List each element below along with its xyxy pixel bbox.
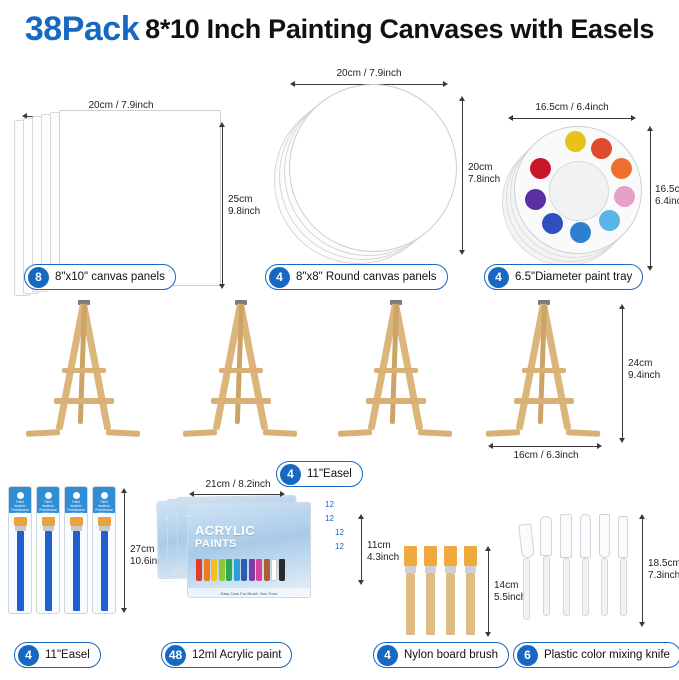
page-title: 38Pack 8*10 Inch Painting Canvases with … <box>0 6 679 52</box>
easel-foot-left <box>338 429 372 437</box>
knife-handle <box>601 558 608 616</box>
ml-badge: 12 <box>325 500 334 509</box>
caption-label: Nylon board brush <box>404 649 498 661</box>
knife-handle <box>543 556 550 616</box>
paint-tube <box>256 559 262 581</box>
dim-line-top <box>193 494 281 495</box>
caption-label: 11"Easel <box>45 649 90 661</box>
ml-badge: 12 <box>335 542 344 551</box>
caption-label: 8"x10" canvas panels <box>55 271 165 283</box>
section-acrylic-paint: ACRYLIC ACRYLIC Acrylic ACRYLIC PAINTS <box>155 494 395 639</box>
hang-hole-icon <box>73 492 80 499</box>
canvas-panel-stack <box>14 64 230 264</box>
caption-brush-set: 4 11"Easel <box>14 642 101 668</box>
knife-handle <box>582 558 589 616</box>
knife-handle <box>523 558 530 620</box>
hang-hole-icon <box>101 492 108 499</box>
dim-arrow-down <box>121 608 127 613</box>
knife-blade <box>560 514 572 558</box>
dim-arrow-down <box>639 622 645 627</box>
dim-arrow-down <box>219 284 225 289</box>
badge-count: 6 <box>517 645 538 666</box>
easel-crossbar-upper <box>374 368 418 373</box>
dim-arrow-right <box>631 115 636 121</box>
dim-arrow-left <box>290 81 295 87</box>
section-canvas-panels: 20cm / 7.9inch 25cm9.8inch <box>6 56 232 296</box>
dim-arrow-down <box>358 580 364 585</box>
tray-well <box>591 138 612 159</box>
paint-tube <box>241 559 247 581</box>
easel-crossbar <box>514 398 574 404</box>
dim-top-label: 20cm / 7.9inch <box>309 68 429 80</box>
knife-blade <box>518 523 534 558</box>
tray-well <box>599 210 620 231</box>
tray-well <box>565 131 586 152</box>
dim-arrow-down <box>485 632 491 637</box>
knife-handle <box>620 558 627 616</box>
knife-blade <box>540 516 552 556</box>
easel-crossbar-upper <box>219 368 263 373</box>
easel <box>18 300 148 450</box>
easel-crossbar <box>54 398 114 404</box>
brush-handle <box>446 573 455 635</box>
brush-ferrule <box>425 566 436 573</box>
dim-bottom-label: 16cm / 6.3inch <box>492 450 600 462</box>
tray-well <box>530 158 551 179</box>
caption-label: 11"Easel <box>307 468 352 480</box>
pack-header: Paint brushesProfessional ACRYLIC <box>37 487 59 513</box>
tray-well <box>611 158 632 179</box>
badge-count: 4 <box>377 645 398 666</box>
knife-handle <box>563 558 570 616</box>
brush-handle <box>17 531 24 611</box>
easel-crossbar-upper <box>522 368 566 373</box>
caption-label: 6.5"Diameter paint tray <box>515 271 632 283</box>
brush-bristles <box>424 546 437 566</box>
badge-count: 8 <box>28 267 49 288</box>
dim-arrow-down <box>459 250 465 255</box>
brush-ferrule <box>465 566 476 573</box>
tray-front <box>514 126 642 254</box>
paint-tube-row <box>196 559 285 581</box>
dim-arrow-up <box>358 514 364 519</box>
caption-label: 8"x8" Round canvas panels <box>296 271 437 283</box>
easel-foot-right <box>418 429 452 437</box>
paint-tray <box>502 124 648 270</box>
knife-blade <box>599 514 610 558</box>
easel-crossbar <box>211 398 271 404</box>
brush-ferrule <box>445 566 456 573</box>
hang-hole-icon <box>17 492 24 499</box>
brush-handle <box>45 531 52 611</box>
paint-tube <box>196 559 202 581</box>
knife-blade <box>580 514 591 558</box>
pack-header: Paint brushesProfessional ACRYLIC <box>9 487 31 513</box>
round-canvas-front <box>289 84 457 252</box>
pack-header: Paint brushesProfessional ACRYLIC <box>65 487 87 513</box>
easel-crossbar-upper <box>62 368 106 373</box>
brush-tip <box>14 517 27 526</box>
dim-arrow-up <box>459 96 465 101</box>
dim-arrow-up <box>619 304 625 309</box>
brush-pack: Paint brushesProfessional ACRYLIC <box>64 486 88 614</box>
section-mixing-knife: 18.5cm7.3inch <box>516 506 679 639</box>
dim-arrow-down <box>647 266 653 271</box>
dim-line-right <box>222 126 223 284</box>
dim-line-bottom <box>492 446 598 447</box>
badge-count: 48 <box>165 645 186 666</box>
knife-blade <box>618 516 628 558</box>
caption-acrylic-paint: 48 12ml Acrylic paint <box>161 642 292 668</box>
paint-tube <box>219 559 225 581</box>
dim-arrow-left <box>508 115 513 121</box>
dim-top-label: 21cm / 8.2inch <box>193 479 283 491</box>
box-title-line2: PAINTS <box>195 538 237 550</box>
caption-canvas-panels: 8 8"x10" canvas panels <box>24 264 176 290</box>
dim-right-label: 16.5cm6.4inch <box>655 184 679 207</box>
easel <box>175 300 305 450</box>
dim-line-right <box>650 130 651 266</box>
ml-badge: 12 <box>335 528 344 537</box>
dim-line-right <box>462 100 463 250</box>
paint-tube <box>279 559 285 581</box>
badge-count: 4 <box>488 267 509 288</box>
brush-handle <box>406 573 415 635</box>
badge-count: 4 <box>18 645 39 666</box>
paint-tube <box>234 559 240 581</box>
brush-tip <box>98 517 111 526</box>
dim-arrow-up <box>121 488 127 493</box>
paint-tube <box>271 559 277 581</box>
caption-label: 12ml Acrylic paint <box>192 649 281 661</box>
dim-line-right <box>488 550 489 632</box>
dim-arrow-right <box>280 491 285 497</box>
brush-bristles <box>464 546 477 566</box>
tray-mixing-area <box>549 161 609 221</box>
brush-handle <box>101 531 108 611</box>
dim-right-label: 24cm9.4inch <box>628 358 676 381</box>
section-nylon-board-brush: 14cm5.5inch <box>398 524 523 639</box>
brush-pack: Paint brushesProfessional ACRYLIC <box>8 486 32 614</box>
dim-right-label: 18.5cm7.3inch <box>648 558 679 581</box>
caption-nylon-board-brush: 4 Nylon board brush <box>373 642 509 668</box>
easel-crossbar <box>366 398 426 404</box>
paint-tube <box>226 559 232 581</box>
hang-hole-icon <box>45 492 52 499</box>
brush-pack: Paint brushesProfessional ACRYLIC <box>92 486 116 614</box>
dim-arrow-left <box>189 491 194 497</box>
brush-tip <box>42 517 55 526</box>
easel-width-dimension: 16cm / 6.3inch <box>478 438 628 468</box>
dim-line-right <box>622 308 623 438</box>
dim-line-right <box>124 492 125 608</box>
dim-line-right <box>642 518 643 622</box>
caption-easel: 4 11"Easel <box>276 461 363 487</box>
box-artwork <box>188 503 310 597</box>
dim-arrow-up <box>639 514 645 519</box>
badge-count: 4 <box>280 464 301 485</box>
caption-mixing-knife: 6 Plastic color mixing knife <box>513 642 679 668</box>
brush-tip <box>70 517 83 526</box>
easel <box>478 300 608 450</box>
pack-header: Paint brushesProfessional ACRYLIC <box>93 487 115 513</box>
dim-arrow-right <box>597 443 602 449</box>
easel-foot-left <box>183 429 217 437</box>
badge-count: 4 <box>269 267 290 288</box>
tray-well <box>614 186 635 207</box>
easel <box>330 300 460 450</box>
brush-bristles <box>444 546 457 566</box>
paint-tube <box>249 559 255 581</box>
easel-foot-right <box>263 429 297 437</box>
pack-count: 38Pack <box>25 10 139 49</box>
easel-foot-left <box>26 429 60 437</box>
brush-ferrule <box>405 566 416 573</box>
brush-pack: Paint brushesProfessional ACRYLIC <box>36 486 60 614</box>
easel-foot-right <box>106 429 140 437</box>
paint-tube <box>264 559 270 581</box>
dim-top-label: 16.5cm / 6.4inch <box>508 102 636 114</box>
dim-arrow-up <box>485 546 491 551</box>
tray-well <box>570 222 591 243</box>
easel-foot-right <box>566 429 600 437</box>
dim-arrow-up <box>219 122 225 127</box>
dim-line-top <box>512 118 632 119</box>
section-round-canvas: 20cm / 7.9inch 20cm7.8inch <box>262 56 472 296</box>
brush-bristles <box>404 546 417 566</box>
ml-badge: 12 <box>325 514 334 523</box>
box-footer-text: Easy Care For Brush Non Toxic <box>188 591 310 596</box>
product-infographic: 38Pack 8*10 Inch Painting Canvases with … <box>0 0 679 680</box>
caption-round-canvas: 4 8"x8" Round canvas panels <box>265 264 448 290</box>
dim-arrow-left <box>488 443 493 449</box>
dim-line-right <box>361 518 362 580</box>
easel-foot-left <box>486 429 520 437</box>
paint-box-front: ACRYLIC PAINTS Easy Care For Brush Non T… <box>187 502 311 598</box>
title-text: 8*10 Inch Painting Canvases with Easels <box>145 14 654 45</box>
paint-tube <box>204 559 210 581</box>
brush-handle <box>466 573 475 635</box>
caption-label: Plastic color mixing knife <box>544 649 670 661</box>
dim-arrow-up <box>647 126 653 131</box>
caption-paint-tray: 4 6.5"Diameter paint tray <box>484 264 643 290</box>
dim-arrow-right <box>443 81 448 87</box>
section-paint-tray: 16.5cm / 6.4inch 16.5cm6.4inch <box>486 56 676 296</box>
box-title-line1: ACRYLIC <box>195 523 255 538</box>
paint-tube <box>211 559 217 581</box>
brush-handle <box>73 531 80 611</box>
brush-handle <box>426 573 435 635</box>
canvas-panel-front <box>59 110 221 286</box>
tray-well <box>525 189 546 210</box>
tray-well <box>542 213 563 234</box>
section-brush-set: Paint brushesProfessional ACRYLIC Paint … <box>6 486 156 636</box>
